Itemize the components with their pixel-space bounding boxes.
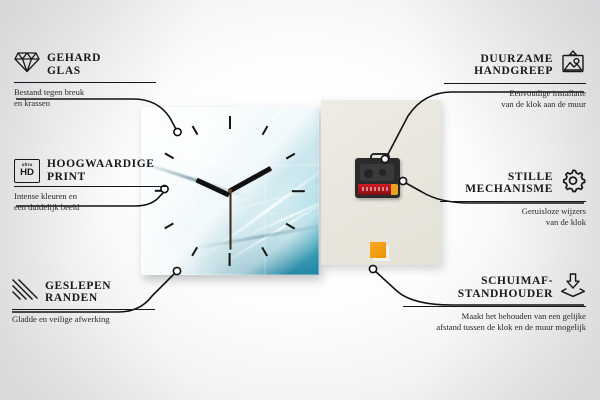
beveled-edges-icon bbox=[12, 278, 38, 306]
divider bbox=[12, 309, 155, 310]
clock-hands-hub bbox=[228, 189, 232, 193]
diamond-icon bbox=[14, 50, 40, 79]
divider bbox=[440, 201, 586, 202]
movement-knob bbox=[364, 169, 373, 178]
feature-description: Gladde en veilige afwerking bbox=[12, 314, 155, 324]
feature-title: SCHUIMAF- STANDHOUDER bbox=[458, 275, 553, 300]
infographic-canvas: GEHARD GLAS Bestand tegen breuk en krass… bbox=[0, 0, 600, 400]
feature-description: Eenvoudige installatie van de klok aan d… bbox=[444, 88, 586, 109]
connector-dot bbox=[369, 265, 376, 272]
battery bbox=[358, 184, 397, 195]
clock-second-hand bbox=[230, 192, 232, 250]
feature-schuimafstandhouder: SCHUIMAF- STANDHOUDER Maakt het behouden… bbox=[403, 272, 586, 332]
feature-title: HOOGWAARDIGE PRINT bbox=[47, 158, 155, 183]
movement-knob-secondary bbox=[379, 169, 386, 176]
feature-geslepen-randen: GESLEPEN RANDEN Gladde en veilige afwerk… bbox=[12, 278, 155, 325]
hanger-loop bbox=[370, 153, 390, 164]
glass-wall-clock-front bbox=[141, 107, 319, 275]
quartz-movement bbox=[355, 158, 400, 198]
ultra-hd-badge-main-text: HD bbox=[20, 168, 34, 178]
divider bbox=[14, 82, 156, 83]
clock-tick bbox=[229, 253, 231, 266]
ultra-hd-badge-icon: ultra HD bbox=[14, 159, 40, 183]
clock-tick bbox=[229, 116, 231, 129]
feature-duurzame-handgreep: DUURZAME HANDGREEP Eenvoudige installati… bbox=[444, 50, 586, 109]
clock-back-view bbox=[321, 100, 441, 265]
feature-gehard-glas: GEHARD GLAS Bestand tegen breuk en krass… bbox=[14, 50, 156, 108]
feature-description: Maakt het behouden van een gelijke afsta… bbox=[403, 311, 586, 332]
gear-icon bbox=[560, 168, 586, 198]
feature-title: DUURZAME HANDGREEP bbox=[474, 53, 553, 78]
feature-title: GEHARD GLAS bbox=[47, 52, 101, 77]
feature-title: STILLE MECHANISME bbox=[465, 171, 553, 196]
spacer-stack-icon bbox=[560, 272, 586, 303]
divider bbox=[14, 186, 166, 187]
feature-hoogwaardige-print: ultra HD HOOGWAARDIGE PRINT Intense kleu… bbox=[14, 158, 166, 212]
clock-tick bbox=[292, 190, 305, 192]
battery-positive-terminal bbox=[391, 184, 398, 195]
battery-label bbox=[362, 187, 389, 191]
feature-description: Bestand tegen breuk en krassen bbox=[14, 87, 156, 108]
feature-description: Intense kleuren en een duidelijk beeld bbox=[14, 191, 166, 212]
framed-picture-hanging-icon bbox=[560, 50, 586, 80]
divider bbox=[444, 83, 586, 84]
feature-stille-mechanisme: STILLE MECHANISME Geruisloze wijzers van… bbox=[440, 168, 586, 227]
divider bbox=[403, 306, 586, 307]
feature-description: Geruisloze wijzers van de klok bbox=[440, 206, 586, 227]
foam-spacer bbox=[370, 242, 386, 258]
feature-title: GESLEPEN RANDEN bbox=[45, 280, 111, 305]
